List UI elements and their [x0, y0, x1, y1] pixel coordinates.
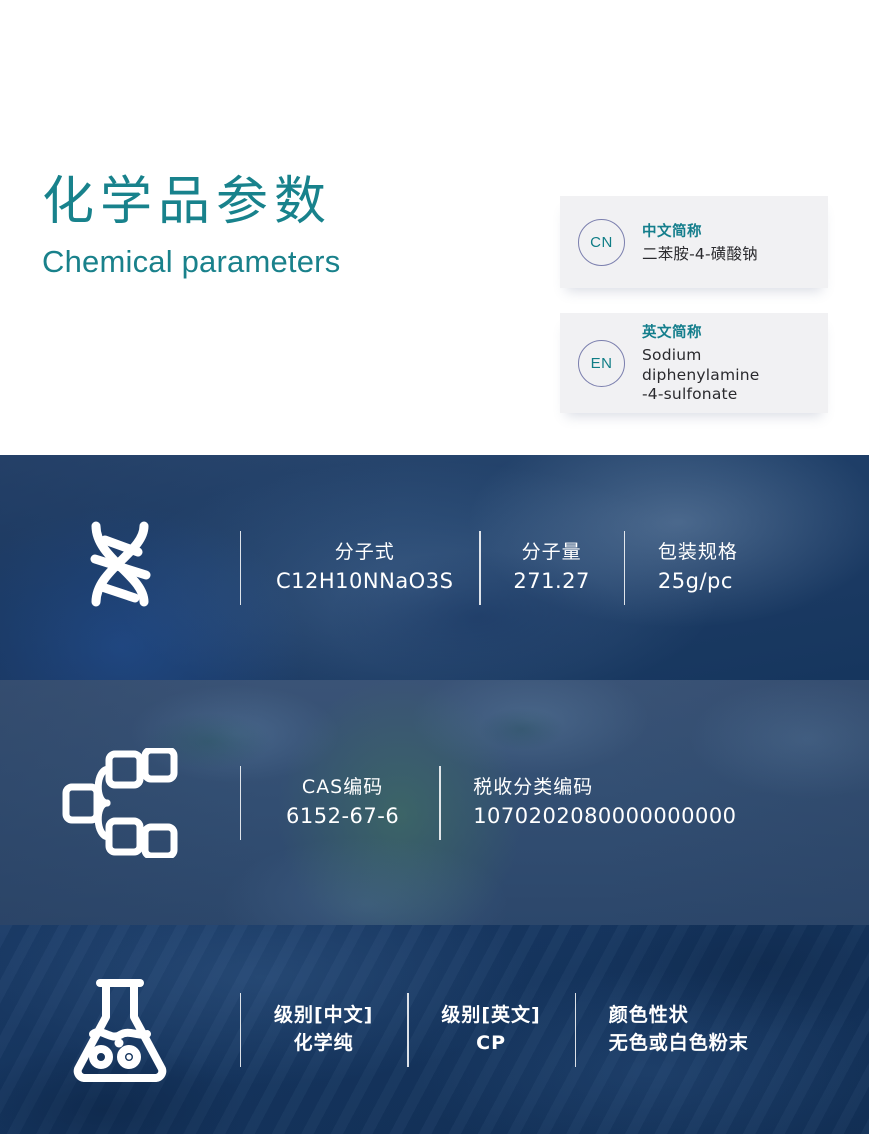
name-card-cn-text: 中文简称 二苯胺-4-磺酸钠: [642, 220, 758, 265]
field-grade-en: 级别[英文] CP: [407, 925, 574, 1134]
header-section: 化学品参数 Chemical parameters CN 中文简称 二苯胺-4-…: [0, 0, 869, 455]
cn-badge-icon: CN: [578, 219, 625, 266]
info-band-codes: CAS编码 6152-67-6 税收分类编码 10702020800000000…: [0, 680, 869, 925]
dna-helix-icon: [0, 512, 240, 624]
en-badge-icon: EN: [578, 340, 625, 387]
field-molecular-weight-label: 分子量: [522, 539, 582, 567]
field-tax-code-value: 1070202080000000000: [473, 801, 736, 831]
page-subtitle: Chemical parameters: [42, 246, 340, 277]
sitemap-tree-icon: [0, 748, 240, 858]
field-grade-en-value: CP: [476, 1030, 506, 1058]
page-title-block: 化学品参数 Chemical parameters: [42, 176, 340, 277]
name-card-en-text: 英文简称 Sodium diphenylamine -4-sulfonate: [642, 321, 814, 405]
info-band-molecular: 分子式 C12H10NNaO3S 分子量 271.27 包装规格 25g/pc: [0, 455, 869, 680]
band-3-fields: 级别[中文] 化学纯 级别[英文] CP 颜色性状 无色或白色粉末: [240, 925, 869, 1134]
field-color-appearance: 颜色性状 无色或白色粉末: [575, 925, 775, 1134]
field-molecular-formula-label: 分子式: [335, 539, 395, 567]
field-package-spec-value: 25g/pc: [658, 566, 738, 596]
field-grade-cn-value: 化学纯: [294, 1030, 354, 1058]
field-package-spec-label: 包装规格: [658, 539, 738, 567]
name-card-en-value: Sodium diphenylamine -4-sulfonate: [642, 346, 814, 405]
field-tax-code: 税收分类编码 1070202080000000000: [439, 680, 762, 925]
name-card-list: CN 中文简称 二苯胺-4-磺酸钠 EN 英文简称 Sodium dipheny…: [560, 196, 828, 413]
name-card-en: EN 英文简称 Sodium diphenylamine -4-sulfonat…: [560, 313, 828, 413]
field-color-appearance-label: 颜色性状: [609, 1002, 749, 1030]
band-1-fields: 分子式 C12H10NNaO3S 分子量 271.27 包装规格 25g/pc: [240, 455, 869, 680]
name-card-cn-label: 中文简称: [642, 220, 758, 241]
erlenmeyer-flask-icon: [0, 977, 240, 1083]
field-package-spec: 包装规格 25g/pc: [624, 455, 764, 680]
info-band-grade: 级别[中文] 化学纯 级别[英文] CP 颜色性状 无色或白色粉末: [0, 925, 869, 1134]
field-cas-number-label: CAS编码: [302, 774, 383, 802]
field-cas-number: CAS编码 6152-67-6: [240, 680, 439, 925]
field-tax-code-label: 税收分类编码: [473, 774, 736, 802]
field-molecular-formula: 分子式 C12H10NNaO3S: [240, 455, 479, 680]
band-2-fields: CAS编码 6152-67-6 税收分类编码 10702020800000000…: [240, 680, 869, 925]
field-cas-number-value: 6152-67-6: [286, 801, 399, 831]
field-grade-en-label: 级别[英文]: [441, 1002, 540, 1030]
field-color-appearance-value: 无色或白色粉末: [609, 1030, 749, 1058]
chemical-parameters-page: 化学品参数 Chemical parameters CN 中文简称 二苯胺-4-…: [0, 0, 869, 1134]
field-grade-cn-label: 级别[中文]: [274, 1002, 373, 1030]
name-card-cn-value: 二苯胺-4-磺酸钠: [642, 245, 758, 265]
field-grade-cn: 级别[中文] 化学纯: [240, 925, 407, 1134]
name-card-cn: CN 中文简称 二苯胺-4-磺酸钠: [560, 196, 828, 288]
page-title: 化学品参数: [42, 176, 340, 228]
field-molecular-weight: 分子量 271.27: [479, 455, 623, 680]
field-molecular-weight-value: 271.27: [513, 566, 589, 596]
name-card-en-label: 英文简称: [642, 321, 814, 342]
field-molecular-formula-value: C12H10NNaO3S: [276, 566, 453, 596]
